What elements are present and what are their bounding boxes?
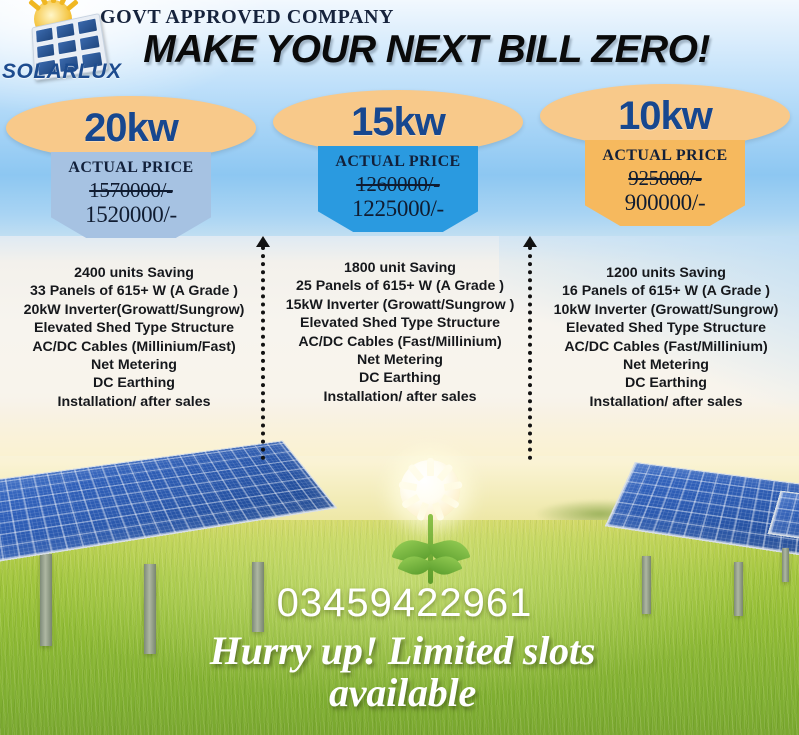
solar-array-icon — [762, 486, 799, 556]
actual-price-label: ACTUAL PRICE — [57, 159, 205, 177]
feature-item: DC Earthing — [532, 374, 799, 392]
solar-promo-poster: SOLARLUX GOVT APPROVED COMPANY MAKE YOUR… — [0, 0, 799, 735]
cta-line-1: Hurry up! Limited slots — [6, 630, 799, 672]
feature-item: Installation/ after sales — [266, 388, 534, 406]
feature-list-20kw: 2400 units Saving 33 Panels of 615+ W (A… — [0, 264, 268, 411]
cta-text: Hurry up! Limited slots available — [0, 630, 799, 713]
feature-item: AC/DC Cables (Millinium/Fast) — [0, 338, 268, 356]
feature-item: Net Metering — [532, 356, 799, 374]
package-price-shield: ACTUAL PRICE 925000/- 900000/- — [585, 140, 745, 226]
sun-sprout-icon — [372, 452, 492, 590]
feature-item: 16 Panels of 615+ W (A Grade ) — [532, 282, 799, 300]
new-price: 1520000/- — [57, 202, 205, 228]
feature-item: 15kW Inverter (Growatt/Sungrow ) — [266, 296, 534, 314]
feature-item: 1800 unit Saving — [266, 259, 534, 277]
old-price: 1570000/- — [57, 178, 205, 203]
package-size-pill: 20kw — [6, 96, 256, 160]
feature-item: Elevated Shed Type Structure — [0, 319, 268, 337]
feature-item: AC/DC Cables (Fast/Millinium) — [532, 338, 799, 356]
feature-item: 20kW Inverter(Growatt/Sungrow) — [0, 301, 268, 319]
feature-item: Elevated Shed Type Structure — [266, 314, 534, 332]
old-price: 1260000/- — [324, 172, 472, 197]
feature-item: Installation/ after sales — [532, 393, 799, 411]
package-size-label: 15kw — [351, 100, 445, 145]
feature-item: 33 Panels of 615+ W (A Grade ) — [0, 282, 268, 300]
feature-list-10kw: 1200 units Saving 16 Panels of 615+ W (A… — [532, 264, 799, 411]
package-card-15kw: 15kw ACTUAL PRICE 1260000/- 1225000/- — [273, 90, 523, 232]
package-size-label: 10kw — [618, 94, 712, 139]
actual-price-label: ACTUAL PRICE — [324, 153, 472, 171]
solar-panel-face — [0, 440, 337, 564]
array-post — [782, 548, 789, 582]
package-size-pill: 10kw — [540, 84, 790, 148]
brand-tagline: GOVT APPROVED COMPANY — [100, 6, 394, 29]
solar-panel-face — [767, 491, 799, 550]
feature-item: Net Metering — [0, 356, 268, 374]
feature-item: 25 Panels of 615+ W (A Grade ) — [266, 277, 534, 295]
new-price: 900000/- — [591, 190, 739, 216]
feature-item: 10kW Inverter (Growatt/Sungrow) — [532, 301, 799, 319]
package-size-pill: 15kw — [273, 90, 523, 154]
feature-item: 2400 units Saving — [0, 264, 268, 282]
feature-item: DC Earthing — [266, 369, 534, 387]
package-size-label: 20kw — [84, 106, 178, 151]
actual-price-label: ACTUAL PRICE — [591, 147, 739, 165]
package-price-shield: ACTUAL PRICE 1570000/- 1520000/- — [51, 152, 211, 238]
feature-item: Elevated Shed Type Structure — [532, 319, 799, 337]
contact-phone[interactable]: 03459422961 — [0, 581, 799, 626]
package-price-shield: ACTUAL PRICE 1260000/- 1225000/- — [318, 146, 478, 232]
feature-item: Installation/ after sales — [0, 393, 268, 411]
page-title: MAKE YOUR NEXT BILL ZERO! — [0, 28, 799, 72]
feature-item: 1200 units Saving — [532, 264, 799, 282]
feature-item: DC Earthing — [0, 374, 268, 392]
cta-line-2: available — [6, 672, 799, 714]
solar-array-icon — [0, 436, 384, 566]
feature-item: Net Metering — [266, 351, 534, 369]
feature-list-15kw: 1800 unit Saving 25 Panels of 615+ W (A … — [266, 259, 534, 406]
package-card-20kw: 20kw ACTUAL PRICE 1570000/- 1520000/- — [6, 96, 256, 238]
new-price: 1225000/- — [324, 196, 472, 222]
old-price: 925000/- — [591, 166, 739, 191]
feature-item: AC/DC Cables (Fast/Millinium) — [266, 333, 534, 351]
package-card-10kw: 10kw ACTUAL PRICE 925000/- 900000/- — [540, 84, 790, 226]
